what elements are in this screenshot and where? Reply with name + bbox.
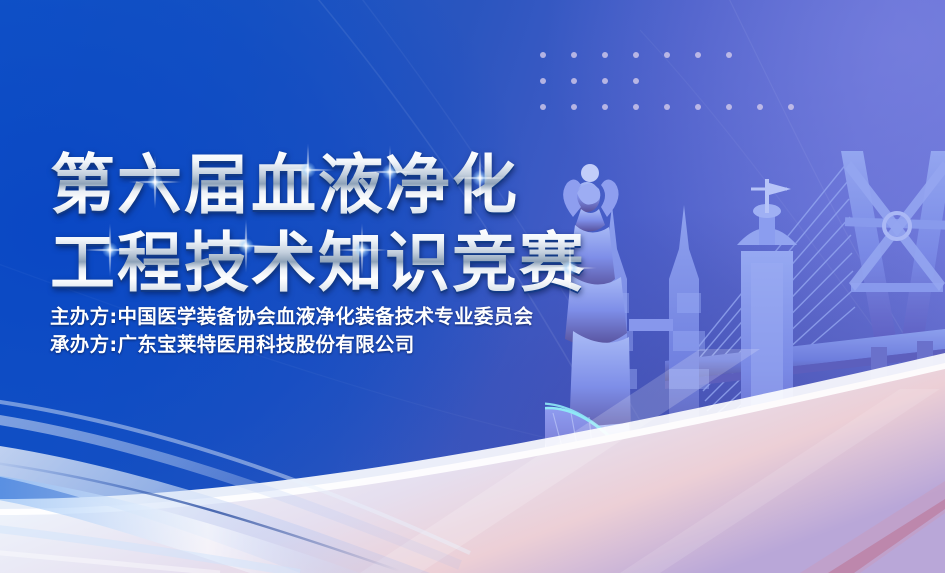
- grid-dot: [540, 78, 546, 84]
- grid-dot: [571, 104, 577, 110]
- grid-dot: [695, 52, 701, 58]
- organizer-block: 主办方:中国医学装备协会血液净化装备技术专业委员会 承办方:广东宝莱特医用科技股…: [50, 303, 533, 359]
- title-line-1: 第六届血液净化: [50, 150, 690, 222]
- title-line-2: 工程技术知识竞赛: [50, 228, 690, 300]
- grid-dot: [602, 104, 608, 110]
- grid-dot: [633, 52, 639, 58]
- grid-dot: [726, 52, 732, 58]
- organizer-line: 主办方:中国医学装备协会血液净化装备技术专业委员会: [50, 303, 533, 331]
- grid-dot: [757, 104, 763, 110]
- title-block: 第六届血液净化 工程技术知识竞赛: [50, 150, 690, 300]
- grid-dot: [695, 104, 701, 110]
- event-banner: 第六届血液净化 工程技术知识竞赛 主办方:中国医学装备协会血液净化装备技术专业委…: [0, 0, 945, 573]
- grid-dot: [633, 78, 639, 84]
- grid-dot: [664, 52, 670, 58]
- grid-dot: [788, 104, 794, 110]
- grid-dot: [540, 104, 546, 110]
- grid-dot: [540, 52, 546, 58]
- grid-dot: [571, 52, 577, 58]
- grid-dot: [602, 78, 608, 84]
- co-organizer-line: 承办方:广东宝莱特医用科技股份有限公司: [50, 331, 533, 359]
- grid-dot: [633, 104, 639, 110]
- grid-dot: [602, 52, 608, 58]
- grid-dot: [571, 78, 577, 84]
- grid-dot: [726, 104, 732, 110]
- grid-dot: [664, 104, 670, 110]
